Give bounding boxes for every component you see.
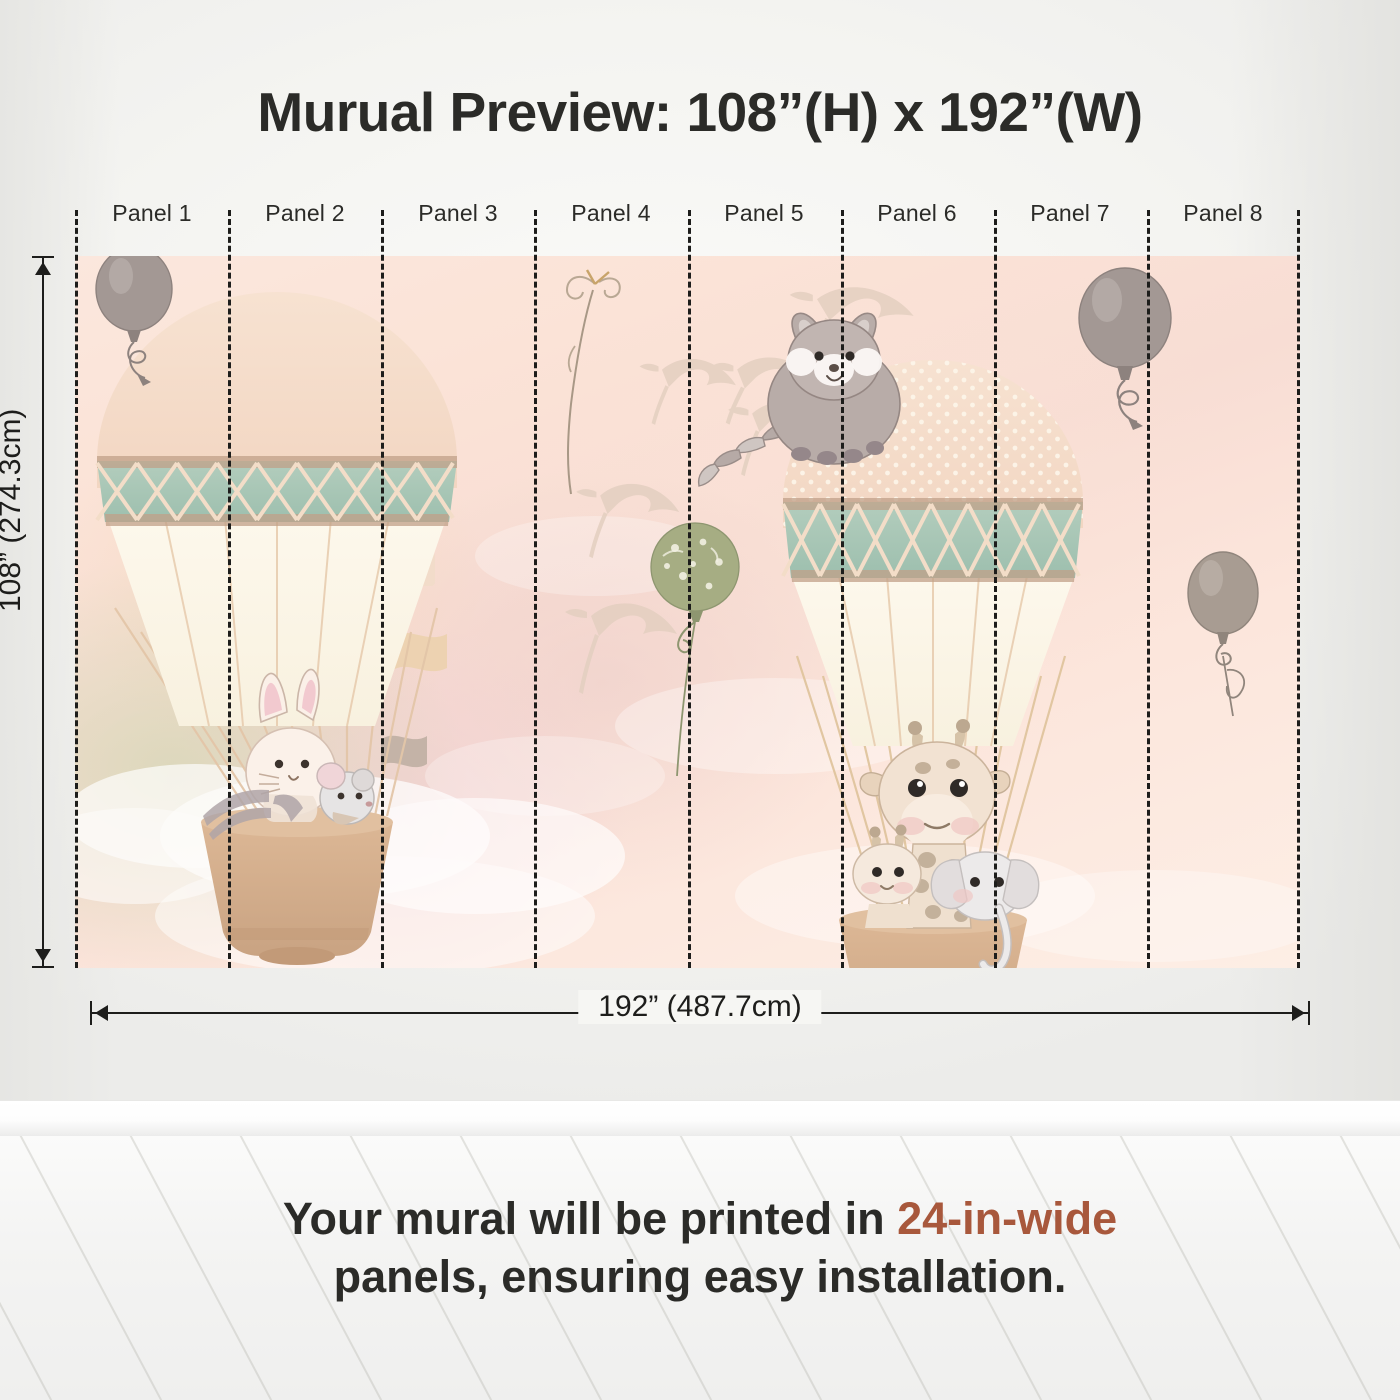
mural-preview[interactable]: Panel 1Panel 2Panel 3Panel 4Panel 5Panel…: [75, 256, 1300, 968]
balloon-grey-right: [1079, 268, 1171, 430]
panel-label-5: Panel 5: [724, 200, 803, 227]
panel-label-3: Panel 3: [418, 200, 497, 227]
footer-caption: Your mural will be printed in 24-in-wide…: [0, 1190, 1400, 1305]
panel-divider-1: [228, 210, 231, 968]
height-dimension-line: [42, 256, 44, 968]
panel-divider-7: [1147, 210, 1150, 968]
panel-divider-8: [1297, 210, 1300, 968]
panel-label-1: Panel 1: [112, 200, 191, 227]
caption-text-before: Your mural will be printed in: [283, 1193, 897, 1244]
height-dimension-label: 108” (274.3cm): [0, 409, 28, 612]
caption-line-2: panels, ensuring easy installation.: [0, 1248, 1400, 1306]
panel-label-7: Panel 7: [1030, 200, 1109, 227]
panel-label-6: Panel 6: [877, 200, 956, 227]
caption-accent: 24-in-wide: [897, 1193, 1117, 1244]
panel-label-2: Panel 2: [265, 200, 344, 227]
panel-label-8: Panel 8: [1183, 200, 1262, 227]
panel-divider-5: [841, 210, 844, 968]
balloon-taupe-right: [1188, 552, 1258, 716]
width-dimension-line: 192” (487.7cm): [90, 1012, 1310, 1014]
page-title: Murual Preview: 108”(H) x 192”(W): [0, 80, 1400, 144]
panel-label-4: Panel 4: [571, 200, 650, 227]
panel-divider-4: [688, 210, 691, 968]
height-arrow-down-icon: [35, 949, 51, 962]
width-arrow-left-icon: [95, 1005, 108, 1021]
width-arrow-right-icon: [1292, 1005, 1305, 1021]
baseboard: [0, 1100, 1400, 1136]
panel-divider-3: [534, 210, 537, 968]
panel-divider-0: [75, 210, 78, 968]
panel-divider-2: [381, 210, 384, 968]
height-arrow-up-icon: [35, 262, 51, 275]
panel-divider-6: [994, 210, 997, 968]
width-dimension-label: 192” (487.7cm): [578, 990, 821, 1024]
caption-line-1: Your mural will be printed in 24-in-wide: [0, 1190, 1400, 1248]
balloon-string-topleft-panel4: [567, 270, 620, 494]
